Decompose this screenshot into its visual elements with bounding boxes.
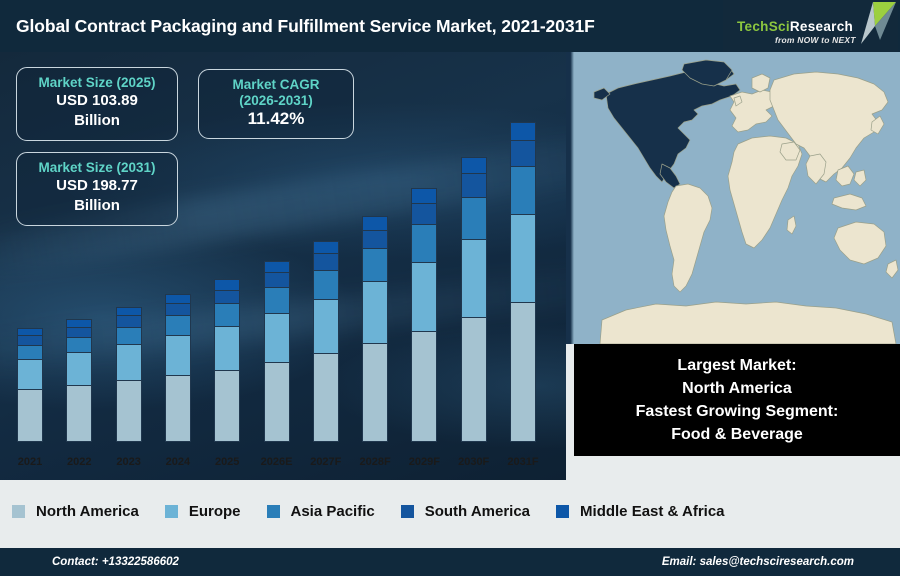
world-map [566, 52, 900, 344]
bar-segment-asia-pacific [510, 166, 536, 214]
page-title: Global Contract Packaging and Fulfillmen… [16, 16, 595, 37]
bar-segment-asia-pacific [214, 303, 240, 326]
callout-line-1: Largest Market: [677, 355, 796, 377]
legend-swatch-icon [556, 505, 569, 518]
card-value: USD 198.77 [27, 176, 167, 196]
legend-label: Middle East & Africa [580, 503, 724, 520]
legend-swatch-icon [267, 505, 280, 518]
card-market-size-2031: Market Size (2031) USD 198.77 Billion [16, 152, 178, 226]
bar-segment-europe [17, 359, 43, 390]
bar-segment-asia-pacific [17, 345, 43, 359]
bar-segment-middle-east-africa [510, 122, 536, 140]
bar-2027F[interactable] [313, 241, 339, 442]
bar-segment-europe [66, 352, 92, 385]
bar-segment-south-america [17, 335, 43, 345]
bar-segment-middle-east-africa [165, 294, 191, 304]
x-axis-label-2026E: 2026E [261, 456, 293, 468]
bar-2022[interactable] [66, 319, 92, 442]
legend-swatch-icon [12, 505, 25, 518]
bar-2028F[interactable] [362, 216, 388, 442]
bar-segment-europe [461, 239, 487, 317]
bar-segment-middle-east-africa [116, 307, 142, 316]
card-label-period: (2026-2031) [209, 93, 343, 109]
bar-segment-europe [411, 262, 437, 331]
card-market-cagr: Market CAGR (2026-2031) 11.42% [198, 69, 354, 139]
x-axis-label-2031F: 2031F [507, 456, 538, 468]
card-value: 11.42% [209, 109, 343, 129]
bar-segment-europe [510, 214, 536, 301]
card-value: USD 103.89 [27, 91, 167, 111]
bar-segment-north-america [510, 302, 536, 442]
legend-item-asia-pacific[interactable]: Asia Pacific [267, 503, 375, 520]
bar-segment-middle-east-africa [362, 216, 388, 230]
logo-brand-primary: TechSci [737, 19, 790, 34]
bar-segment-south-america [461, 173, 487, 196]
bar-2024[interactable] [165, 294, 191, 442]
world-map-svg [566, 52, 900, 344]
bar-segment-europe [214, 326, 240, 370]
legend-label: North America [36, 503, 139, 520]
bar-segment-north-america [264, 362, 290, 442]
bar-segment-middle-east-africa [214, 279, 240, 289]
legend-swatch-icon [401, 505, 414, 518]
logo-wordmark: TechSciResearch [737, 19, 853, 34]
bar-segment-middle-east-africa [66, 319, 92, 327]
bar-segment-south-america [510, 140, 536, 166]
x-axis-label-2030F: 2030F [458, 456, 489, 468]
chart-panel: Market Size (2025) USD 103.89 Billion Ma… [0, 52, 566, 480]
bar-segment-middle-east-africa [264, 261, 290, 272]
bar-2030F[interactable] [461, 157, 487, 442]
bar-segment-middle-east-africa [17, 328, 43, 335]
x-axis-label-2025: 2025 [215, 456, 239, 468]
axis-background-strip [0, 480, 900, 485]
map-left-shadow [566, 52, 574, 344]
bar-segment-south-america [214, 290, 240, 304]
bar-segment-asia-pacific [66, 337, 92, 352]
bar-2023[interactable] [116, 307, 142, 442]
bar-segment-north-america [17, 389, 43, 442]
x-axis-label-2024: 2024 [166, 456, 190, 468]
bar-segment-south-america [313, 253, 339, 270]
x-axis-label-2023: 2023 [116, 456, 140, 468]
bar-segment-asia-pacific [461, 197, 487, 240]
bar-2031F[interactable] [510, 122, 536, 442]
bar-segment-south-america [411, 203, 437, 224]
card-label: Market CAGR [209, 77, 343, 93]
bar-segment-europe [165, 335, 191, 375]
bar-segment-north-america [66, 385, 92, 442]
bar-2029F[interactable] [411, 188, 437, 442]
header-bar: Global Contract Packaging and Fulfillmen… [0, 0, 900, 52]
logo-brand-secondary: Research [790, 19, 853, 34]
bar-segment-middle-east-africa [313, 241, 339, 253]
bar-segment-europe [116, 344, 142, 380]
bar-segment-south-america [165, 303, 191, 315]
card-value-unit: Billion [27, 111, 167, 131]
bar-2025[interactable] [214, 279, 240, 442]
card-market-size-2025: Market Size (2025) USD 103.89 Billion [16, 67, 178, 141]
bar-segment-south-america [362, 230, 388, 248]
bar-segment-asia-pacific [116, 327, 142, 345]
bar-segment-north-america [313, 353, 339, 442]
footer-contact[interactable]: Contact: +13322586602 [52, 556, 179, 568]
bar-segment-south-america [264, 272, 290, 287]
bar-segment-asia-pacific [313, 270, 339, 299]
legend-label: Asia Pacific [291, 503, 375, 520]
bar-segment-europe [362, 281, 388, 343]
legend-label: Europe [189, 503, 241, 520]
bar-segment-asia-pacific [411, 224, 437, 262]
bar-segment-asia-pacific [362, 248, 388, 281]
bar-segment-middle-east-africa [411, 188, 437, 203]
logo-tagline: from NOW to NEXT [775, 35, 856, 45]
callout-line-3: Fastest Growing Segment: [636, 401, 839, 423]
techsci-research-logo[interactable]: TechSciResearch from NOW to NEXT [723, 0, 898, 52]
bar-segment-middle-east-africa [461, 157, 487, 174]
legend-item-europe[interactable]: Europe [165, 503, 241, 520]
infographic-page: Global Contract Packaging and Fulfillmen… [0, 0, 900, 576]
bar-segment-north-america [461, 317, 487, 442]
x-axis-label-2022: 2022 [67, 456, 91, 468]
chart-legend: North AmericaEuropeAsia PacificSouth Ame… [0, 485, 900, 538]
x-axis-label-2021: 2021 [18, 456, 42, 468]
callout-line-4: Food & Beverage [671, 424, 803, 446]
x-axis-label-2028F: 2028F [359, 456, 390, 468]
bar-segment-north-america [165, 375, 191, 442]
bar-segment-north-america [362, 343, 388, 442]
card-label: Market Size (2025) [27, 75, 167, 91]
legend-item-middle-east-africa[interactable]: Middle East & Africa [556, 503, 724, 520]
bar-2026E[interactable] [264, 261, 290, 442]
bar-segment-north-america [116, 380, 142, 442]
bar-segment-north-america [411, 331, 437, 443]
bar-segment-north-america [214, 370, 240, 442]
callout-line-2: North America [682, 378, 792, 400]
card-label: Market Size (2031) [27, 160, 167, 176]
bar-segment-south-america [116, 315, 142, 326]
x-axis-label-2027F: 2027F [310, 456, 341, 468]
bar-segment-south-america [66, 327, 92, 337]
legend-swatch-icon [165, 505, 178, 518]
card-value-unit: Billion [27, 196, 167, 216]
bar-segment-europe [264, 313, 290, 362]
legend-label: South America [425, 503, 530, 520]
bar-segment-asia-pacific [165, 315, 191, 335]
footer-bar: Contact: +13322586602 Email: sales@techs… [0, 548, 900, 576]
x-axis-label-2029F: 2029F [409, 456, 440, 468]
legend-item-south-america[interactable]: South America [401, 503, 530, 520]
bar-segment-europe [313, 299, 339, 354]
legend-item-north-america[interactable]: North America [12, 503, 139, 520]
callout-box: Largest Market: North America Fastest Gr… [574, 344, 900, 456]
bar-segment-asia-pacific [264, 287, 290, 313]
bar-2021[interactable] [17, 328, 43, 442]
footer-email[interactable]: Email: sales@techsciresearch.com [662, 556, 854, 568]
